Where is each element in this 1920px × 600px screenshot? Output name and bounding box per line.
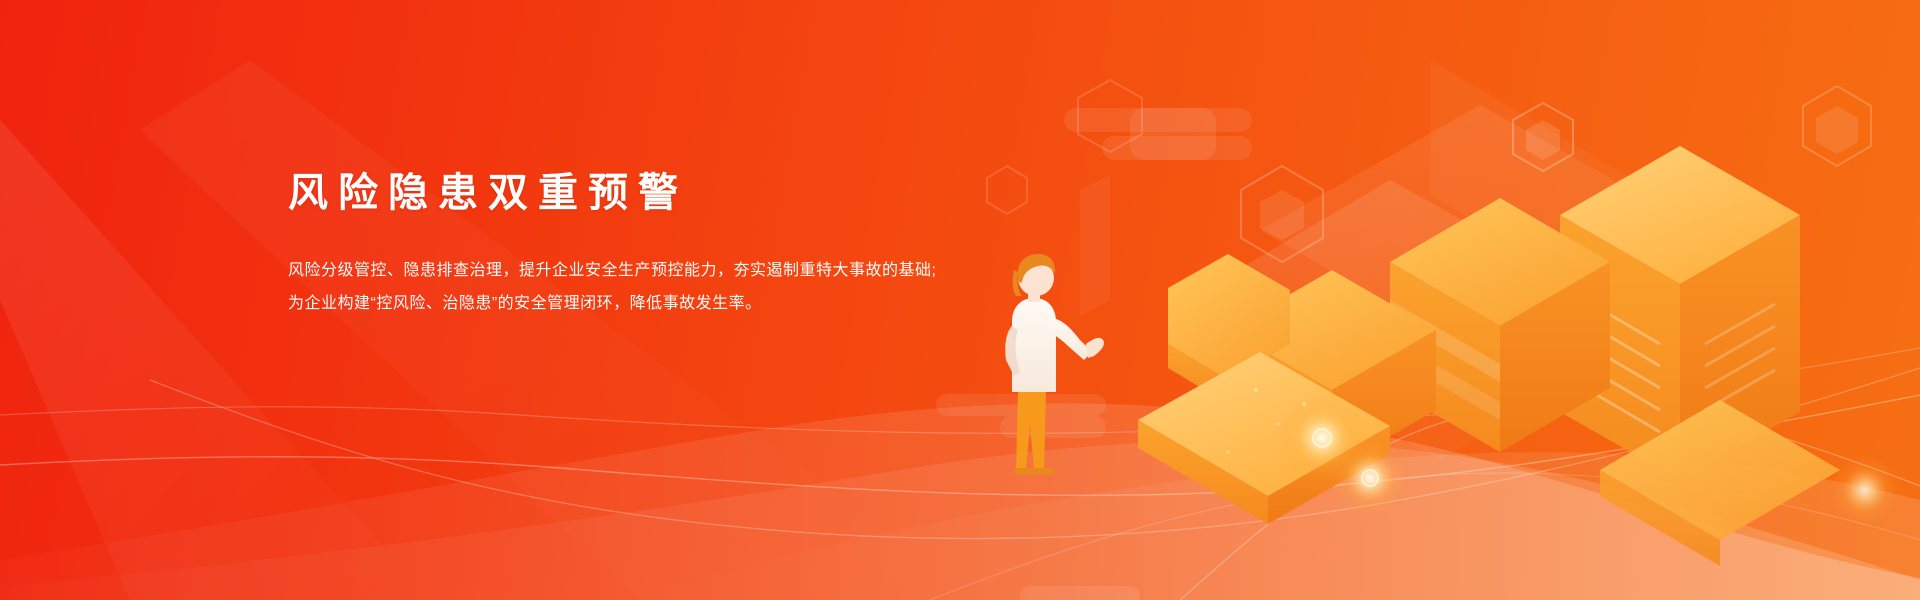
- hexagon-outline-large: [1078, 80, 1142, 152]
- floating-cube-low: [1241, 166, 1323, 262]
- character-shirt: [1012, 298, 1056, 392]
- banner-subtitle: 风险分级管控、隐患排查治理，提升企业安全生产预控能力，夯实遏制重特大事故的基础;…: [288, 254, 988, 320]
- hexagon-cube-top-right: [1803, 86, 1871, 166]
- promo-banner: 风险隐患双重预警 风险分级管控、隐患排查治理，提升企业安全生产预控能力，夯实遏制…: [0, 0, 1920, 600]
- floating-cube-mid: [1513, 103, 1573, 171]
- right-platform-slab: [1600, 400, 1840, 566]
- server-tower-tall: [1560, 146, 1800, 480]
- page-title: 风险隐患双重预警: [288, 168, 988, 218]
- character-hair: [1018, 254, 1055, 283]
- ghost-slabs: [1080, 60, 1760, 460]
- character-pants: [1016, 392, 1046, 470]
- glow-point-upper: [1276, 392, 1368, 484]
- spark-dots: [1226, 388, 1306, 454]
- server-tower-short: [1390, 198, 1610, 452]
- person-pointing: [1005, 254, 1104, 475]
- hexagon-outline-small: [987, 166, 1027, 214]
- front-platform-slab: [1138, 352, 1390, 524]
- banner-copy: 风险隐患双重预警 风险分级管控、隐患排查治理，提升企业安全生产预控能力，夯实遏制…: [288, 168, 988, 320]
- chevron-block: [1168, 254, 1290, 404]
- subtitle-line-1: 风险分级管控、隐患排查治理，提升企业安全生产预控能力，夯实遏制重特大事故的基础;: [288, 254, 988, 287]
- isometric-cube-stack: [1228, 270, 1436, 470]
- subtitle-line-2: 为企业构建“控风险、治隐患”的安全管理闭环，降低事故发生率。: [288, 287, 988, 320]
- glow-point-lower: [1330, 438, 1410, 518]
- glow-point-edge: [1829, 454, 1901, 526]
- isometric-data-center-illustration: [960, 0, 1920, 600]
